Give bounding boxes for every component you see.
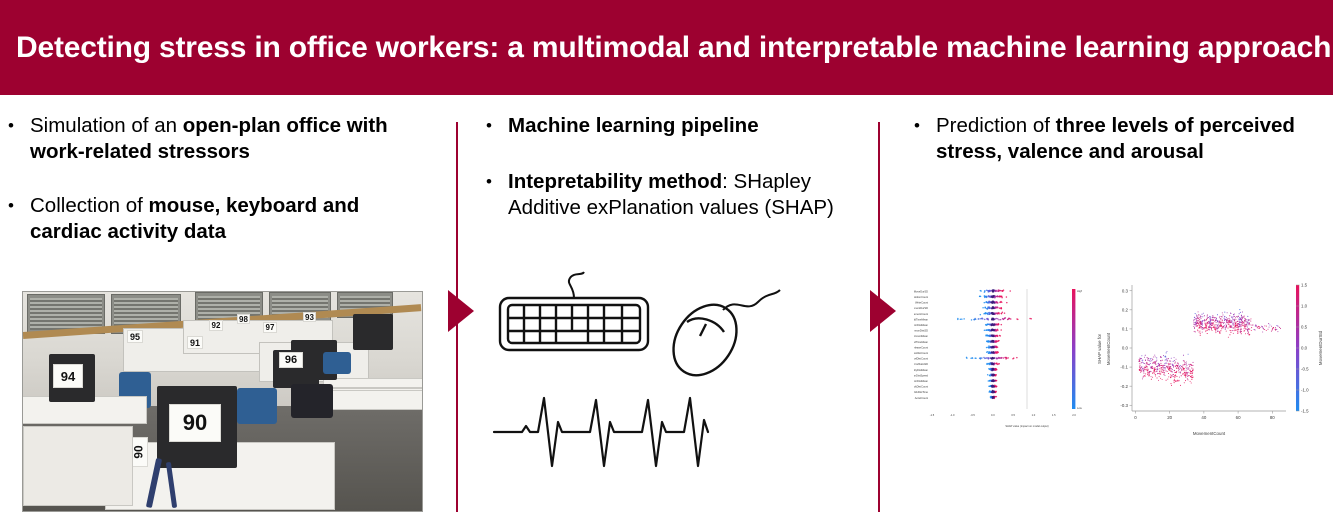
svg-text:-0.5: -0.5 [970,413,975,417]
svg-text:MouseSpeedTimeMean: MouseSpeedTimeMean [914,340,929,344]
svg-text:2.0: 2.0 [1072,413,1076,417]
bullet-text-bold: Intepretability method [508,170,722,193]
svg-text:40: 40 [1201,415,1206,420]
photo-desk [23,426,133,506]
input-device-icon-group [478,270,860,500]
svg-text:MotionCountMean: MotionCountMean [914,334,929,338]
photo-monitor [353,314,393,350]
svg-text:KeyReleaseCount: KeyReleaseCount [914,345,928,349]
bullet-text: Prediction of three levels of perceived … [936,113,1314,165]
slide-header-bar: Detecting stress in office workers: a mu… [0,0,1333,95]
svg-text:MouseMoveDurSD: MouseMoveDurSD [914,289,928,293]
svg-text:ErrorDistMean: ErrorDistMean [914,323,929,327]
monitor-number-label: 90 [169,404,221,442]
mouse-icon [661,290,780,387]
bullet-marker: • [914,113,936,165]
svg-text:MovementDurSD: MovementDurSD [914,306,928,310]
monitor-number-label: 97 [263,322,277,333]
bullet-text: Collection of mouse, keyboard and cardia… [30,193,428,245]
svg-text:TimeQuantityDistMean: TimeQuantityDistMean [914,368,929,372]
bullet-marker: • [8,193,30,245]
bullet-marker: • [486,113,508,139]
list-item: • Simulation of an open-plan office with… [8,113,428,165]
svg-text:-0.2: -0.2 [1120,384,1128,389]
bullet-text-plain: Prediction of [936,114,1056,137]
photo-desk [319,390,423,410]
svg-text:20: 20 [1167,415,1172,420]
svg-text:0.2: 0.2 [1122,307,1129,312]
right-bullet-list: • Prediction of three levels of perceive… [900,95,1314,187]
ecg-waveform-icon [494,398,708,466]
svg-text:AccelCount: AccelCount [915,396,929,400]
page-title: Detecting stress in office workers: a mu… [16,31,1331,65]
svg-text:1.5: 1.5 [1301,283,1308,288]
svg-text:0.0: 0.0 [991,413,995,417]
svg-text:ScreenMeanDistSpeed: ScreenMeanDistSpeed [914,373,929,377]
svg-text:Low: Low [1077,406,1082,410]
arrow-right-icon [870,290,896,332]
svg-text:1.5: 1.5 [1052,413,1056,417]
svg-text:CommonDistSD: CommonDistSD [914,329,928,333]
svg-text:1.0: 1.0 [1301,304,1308,309]
shap-summary-chart: MouseMoveDurSDMouseMotionCountWriteCount… [914,275,1082,435]
list-item: • Machine learning pipeline [486,113,858,139]
bullet-marker: • [486,169,508,221]
svg-text:MouseClickDistTime: MouseClickDistTime [914,390,929,394]
svg-text:0.1: 0.1 [1122,327,1129,332]
svg-text:-1.5: -1.5 [1301,409,1309,414]
photo-desk [323,378,423,388]
photo-chair [323,352,351,374]
monitor-number-label: 94 [53,364,83,388]
column-right: • Prediction of three levels of perceive… [900,95,1333,512]
monitor-number-label: 92 [209,320,223,331]
svg-text:0.0: 0.0 [1122,346,1129,351]
svg-text:60: 60 [1236,415,1241,420]
svg-text:0.0: 0.0 [1301,346,1308,351]
svg-text:1.0: 1.0 [1032,413,1036,417]
svg-text:0.5: 0.5 [1011,413,1015,417]
svg-text:SHAP value (impact on model ou: SHAP value (impact on model output) [1005,424,1048,428]
middle-bullet-list: • Machine learning pipeline • Intepretab… [478,95,858,251]
svg-text:-0.3: -0.3 [1120,403,1128,408]
bullet-marker: • [8,113,30,165]
keyboard-icon [500,272,648,350]
shap-dependence-chart: -0.3-0.2-0.10.00.10.20.3 020406080 Movem… [1090,275,1324,445]
list-item: • Prediction of three levels of perceive… [914,113,1314,165]
svg-text:0.5: 0.5 [1301,325,1308,330]
shap-dependence-svg: -0.3-0.2-0.10.00.10.20.3 020406080 Movem… [1090,275,1324,445]
bullet-text: Machine learning pipeline [508,113,759,139]
svg-text:KeyPressDistCount: KeyPressDistCount [914,351,928,355]
bullet-text-plain: Simulation of an [30,114,183,137]
shap-summary-svg: MouseMoveDurSDMouseMotionCountWriteCount… [914,275,1082,435]
monitor-number-label: 98 [237,314,250,324]
svg-text:MovementCount: MovementCount [1106,332,1111,365]
column-middle: • Machine learning pipeline • Intepretab… [478,95,860,512]
svg-text:-1.0: -1.0 [1301,388,1309,393]
svg-text:MovementDurStd: MovementDurStd [1318,330,1323,365]
svg-text:SpeedAccelDistCount: SpeedAccelDistCount [914,357,928,361]
svg-text:-1.0: -1.0 [950,413,955,417]
list-item: • Intepretability method: SHapley Additi… [486,169,858,221]
svg-text:High: High [1077,289,1082,293]
list-item: • Collection of mouse, keyboard and card… [8,193,428,245]
bullet-text: Simulation of an open-plan office with w… [30,113,428,165]
svg-text:-1.5: -1.5 [930,413,935,417]
monitor-number-label: 95 [127,330,143,343]
photo-chair [291,384,333,418]
slide-content: • Simulation of an open-plan office with… [0,95,1333,512]
icons-svg [478,270,860,500]
shap-colorbar [1072,289,1075,409]
bullet-text-bold: Machine learning pipeline [508,114,759,137]
arrow-right-icon [448,290,474,332]
left-bullet-list: • Simulation of an open-plan office with… [0,95,428,267]
svg-text:MouseMotionCount: MouseMotionCount [914,295,928,299]
monitor-number-label: 93 [303,312,316,322]
svg-text:WriteCount: WriteCount [915,301,928,305]
office-lab-photo: 95 91 92 97 98 93 96 94 [22,291,423,512]
svg-text:80: 80 [1270,415,1275,420]
bullet-text: Intepretability method: SHapley Additive… [508,169,858,221]
svg-text:SHAP value for: SHAP value for [1097,333,1102,363]
result-figures: MouseMoveDurSDMouseMotionCountWriteCount… [914,275,1324,450]
svg-text:SpeedVectorDistMean: SpeedVectorDistMean [914,379,929,383]
svg-text:MovementCount: MovementCount [1193,431,1226,436]
svg-text:ClickDistCount: ClickDistCount [914,385,928,389]
svg-text:0.3: 0.3 [1122,288,1129,293]
svg-text:MovementCount: MovementCount [914,312,928,316]
monitor-number-label: 96 [279,352,303,368]
svg-text:ErrorRatioSD: ErrorRatioSD [914,362,928,366]
svg-text:KeyHoldTimeMean: KeyHoldTimeMean [914,317,929,321]
column-left: • Simulation of an open-plan office with… [0,95,440,512]
photo-chair [237,388,277,424]
monitor-number-label: 91 [187,336,203,349]
bullet-text-plain: Collection of [30,194,149,217]
svg-text:-0.5: -0.5 [1301,367,1309,372]
svg-text:-0.1: -0.1 [1120,365,1128,370]
